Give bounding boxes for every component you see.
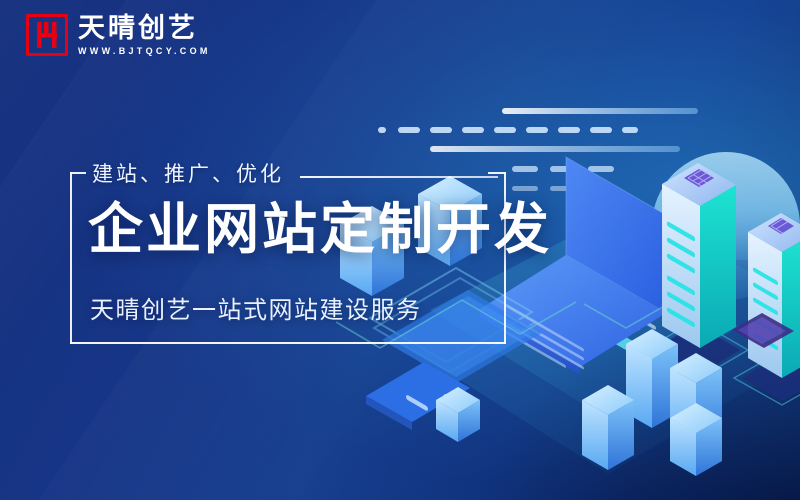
tagline-rule — [300, 176, 498, 178]
brand-wordmark: 天晴创艺 WWW.BJTQCY.COM — [78, 14, 211, 55]
tqcy-square-logo-icon — [26, 14, 68, 56]
brand-logo[interactable]: 天晴创艺 WWW.BJTQCY.COM — [26, 14, 211, 56]
brand-name: 天晴创艺 — [78, 14, 211, 42]
hero-tagline: 建站、推广、优化 — [92, 158, 284, 188]
hero-subheadline: 天晴创艺一站式网站建设服务 — [90, 290, 422, 325]
brand-website: WWW.BJTQCY.COM — [78, 46, 211, 56]
hero-banner: 建站、推广、优化 企业网站定制开发 天晴创艺一站式网站建设服务 天晴创艺 WWW… — [0, 0, 800, 500]
hero-copy: 建站、推广、优化 企业网站定制开发 天晴创艺一站式网站建设服务 — [0, 0, 540, 500]
hero-headline: 企业网站定制开发 — [88, 198, 552, 262]
